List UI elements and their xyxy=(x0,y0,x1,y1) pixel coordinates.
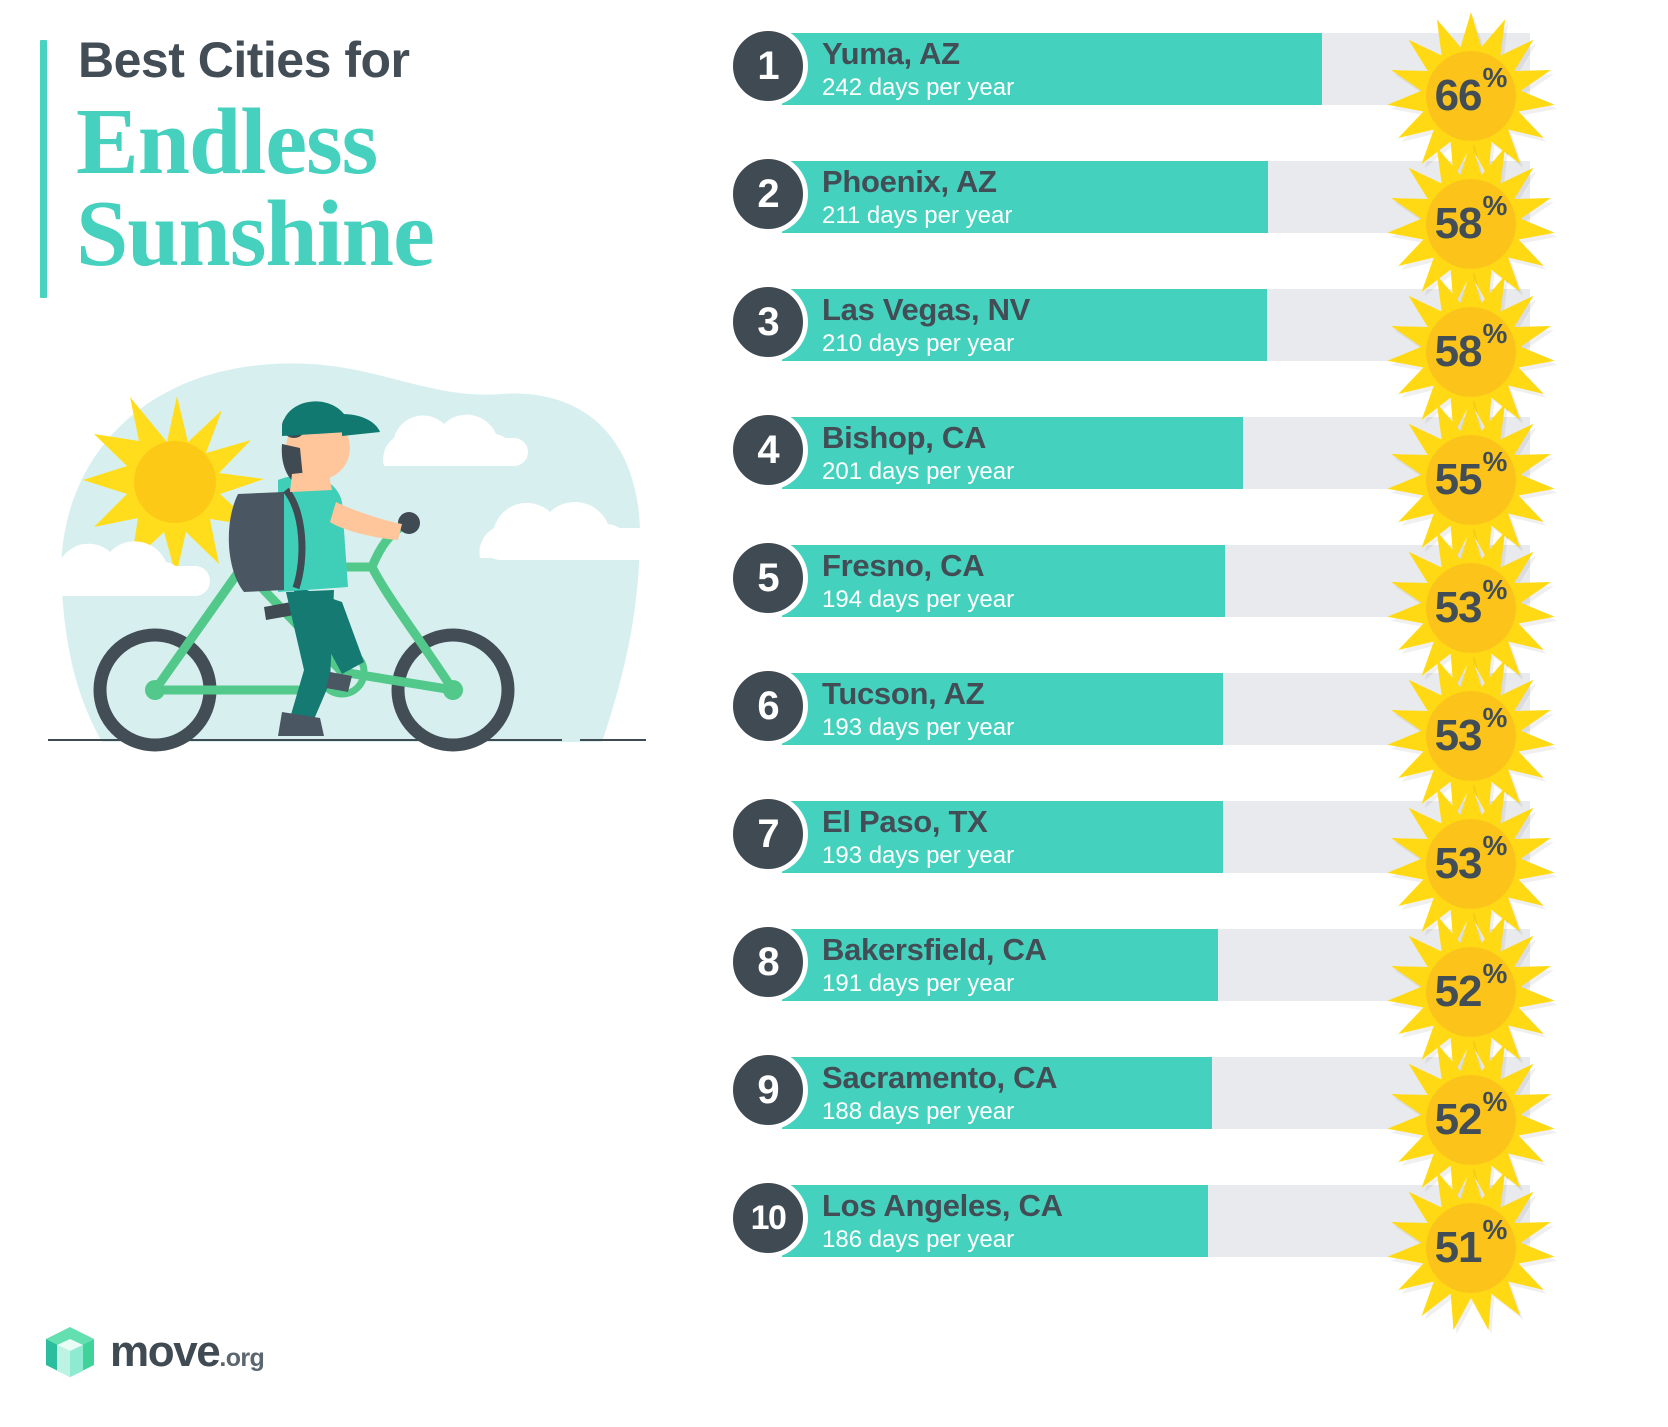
rank-badge: 1 xyxy=(728,26,808,106)
city-days-value: 193 days per year xyxy=(822,842,1014,871)
rank-labels: Fresno, CA 194 days per year xyxy=(822,549,1014,615)
rank-badge: 9 xyxy=(728,1050,808,1130)
city-name: Bakersfield, CA xyxy=(822,933,1047,968)
rank-labels: Phoenix, AZ 211 days per year xyxy=(822,165,1012,231)
title-accent-bar xyxy=(40,40,47,298)
logo-tld: .org xyxy=(219,1346,264,1371)
sun-percent-value: 52 xyxy=(1435,967,1482,1017)
ranking-row-10[interactable]: 10 Los Angeles, CA 186 days per year 51% xyxy=(728,1172,1648,1258)
rank-badge: 3 xyxy=(728,282,808,362)
rank-labels: El Paso, TX 193 days per year xyxy=(822,805,1014,871)
rank-badge: 6 xyxy=(728,666,808,746)
sun-percent-value: 51 xyxy=(1435,1223,1482,1273)
sun-percent-symbol: % xyxy=(1483,1214,1508,1246)
rank-badge: 7 xyxy=(728,794,808,874)
sun-percent-symbol: % xyxy=(1483,446,1508,478)
city-name: Fresno, CA xyxy=(822,549,1014,584)
sun-percent-symbol: % xyxy=(1483,702,1508,734)
rank-labels: Tucson, AZ 193 days per year xyxy=(822,677,1014,743)
city-days-value: 188 days per year xyxy=(822,1098,1057,1127)
title-headline: Endless Sunshine xyxy=(76,96,434,280)
left-panel: Best Cities for Endless Sunshine xyxy=(0,0,700,1427)
city-name: Phoenix, AZ xyxy=(822,165,1012,200)
city-days-value: 210 days per year xyxy=(822,330,1030,359)
rank-labels: Yuma, AZ 242 days per year xyxy=(822,37,1014,103)
title-headline-line-1: Endless xyxy=(76,96,434,188)
sun-percent-symbol: % xyxy=(1483,958,1508,990)
city-name: Las Vegas, NV xyxy=(822,293,1030,328)
rank-labels: Bakersfield, CA 191 days per year xyxy=(822,933,1047,999)
city-days-value: 242 days per year xyxy=(822,74,1014,103)
sun-percent-value: 55 xyxy=(1435,455,1482,505)
rank-labels: Bishop, CA 201 days per year xyxy=(822,421,1014,487)
title-kicker: Best Cities for xyxy=(78,34,409,87)
move-cube-icon xyxy=(44,1325,96,1379)
sun-percent-symbol: % xyxy=(1483,318,1508,350)
city-name: Bishop, CA xyxy=(822,421,1014,456)
ranking-row-4[interactable]: 4 Bishop, CA 201 days per year 55% xyxy=(728,404,1648,490)
city-name: El Paso, TX xyxy=(822,805,1014,840)
sun-percent-value: 53 xyxy=(1435,583,1482,633)
city-name: Sacramento, CA xyxy=(822,1061,1057,1096)
city-name: Los Angeles, CA xyxy=(822,1189,1063,1224)
ranking-row-5[interactable]: 5 Fresno, CA 194 days per year 53% xyxy=(728,532,1648,618)
logo-wordmark: move.org xyxy=(110,1330,264,1374)
rank-badge: 8 xyxy=(728,922,808,1002)
city-days-value: 194 days per year xyxy=(822,586,1014,615)
cyclist-illustration xyxy=(42,352,652,752)
ranking-row-6[interactable]: 6 Tucson, AZ 193 days per year 53% xyxy=(728,660,1648,746)
sun-percent-symbol: % xyxy=(1483,1086,1508,1118)
logo-name: move xyxy=(110,1330,219,1374)
title-headline-line-2: Sunshine xyxy=(76,188,434,280)
city-days-value: 211 days per year xyxy=(822,202,1012,231)
move-org-logo[interactable]: move.org xyxy=(44,1325,264,1379)
city-days-value: 193 days per year xyxy=(822,714,1014,743)
sun-percent-value: 66 xyxy=(1435,71,1482,121)
sun-percent-value: 53 xyxy=(1435,711,1482,761)
rank-badge: 2 xyxy=(728,154,808,234)
ranking-row-7[interactable]: 7 El Paso, TX 193 days per year 53% xyxy=(728,788,1648,874)
rank-badge: 4 xyxy=(728,410,808,490)
sun-percent-value: 58 xyxy=(1435,327,1482,377)
sun-percent-symbol: % xyxy=(1483,190,1508,222)
ranking-row-8[interactable]: 8 Bakersfield, CA 191 days per year 52% xyxy=(728,916,1648,1002)
city-days-value: 201 days per year xyxy=(822,458,1014,487)
sun-percent-value: 53 xyxy=(1435,839,1482,889)
city-days-value: 186 days per year xyxy=(822,1226,1063,1255)
ranking-row-1[interactable]: 1 Yuma, AZ 242 days per year 66% xyxy=(728,20,1648,106)
ranking-row-2[interactable]: 2 Phoenix, AZ 211 days per year 58% xyxy=(728,148,1648,234)
sun-percent-value: 58 xyxy=(1435,199,1482,249)
rank-badge: 10 xyxy=(728,1178,808,1258)
sun-percent-badge: 51% xyxy=(1383,1160,1559,1336)
sun-percent-symbol: % xyxy=(1483,62,1508,94)
sun-percent-symbol: % xyxy=(1483,574,1508,606)
sun-percent-value: 52 xyxy=(1435,1095,1482,1145)
city-name: Tucson, AZ xyxy=(822,677,1014,712)
city-days-value: 191 days per year xyxy=(822,970,1047,999)
ranking-row-3[interactable]: 3 Las Vegas, NV 210 days per year 58% xyxy=(728,276,1648,362)
city-name: Yuma, AZ xyxy=(822,37,1014,72)
ranking-row-9[interactable]: 9 Sacramento, CA 188 days per year 52% xyxy=(728,1044,1648,1130)
ranking-list: 1 Yuma, AZ 242 days per year 66% 2 Phoen… xyxy=(728,20,1648,1258)
sun-percent-text: 51% xyxy=(1383,1160,1559,1336)
rank-labels: Sacramento, CA 188 days per year xyxy=(822,1061,1057,1127)
rank-badge: 5 xyxy=(728,538,808,618)
rank-labels: Los Angeles, CA 186 days per year xyxy=(822,1189,1063,1255)
sun-percent-symbol: % xyxy=(1483,830,1508,862)
rank-labels: Las Vegas, NV 210 days per year xyxy=(822,293,1030,359)
